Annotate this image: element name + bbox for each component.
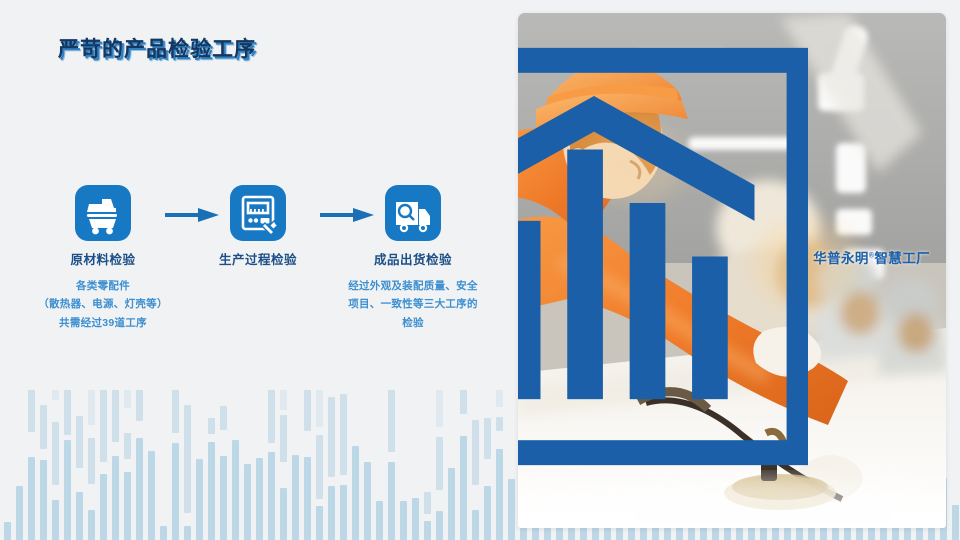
flow-step-raw-material[interactable]: 原材料检验 各类零配件 （散热器、电源、灯壳等） 共需经过39道工序: [33, 185, 173, 332]
decorative-bar: [268, 390, 275, 443]
decorative-bar: [244, 464, 251, 540]
decorative-bar: [232, 440, 239, 540]
decorative-bar: [220, 456, 227, 540]
desc-line: （散热器、电源、灯壳等）: [33, 295, 173, 313]
decorative-bar: [436, 390, 443, 427]
decorative-bar: [436, 511, 443, 540]
decorative-bar: [292, 455, 299, 540]
decorative-bar: [124, 390, 131, 408]
decorative-bar: [448, 468, 455, 540]
factory-photo: 华普永明®智慧工厂: [518, 13, 946, 528]
decorative-bar: [88, 438, 95, 484]
slide-canvas: 严苛的产品检验工序 原材料检验 各类零配件 （散热器、电源、灯壳等）: [0, 0, 960, 540]
decorative-bar: [328, 486, 335, 540]
decorative-bar: [172, 390, 179, 433]
mine-cart-icon: [75, 185, 131, 241]
decorative-bar: [88, 390, 95, 425]
decorative-bar: [436, 437, 443, 490]
decorative-bar: [412, 498, 419, 540]
page-title-text: 严苛的产品检验工序: [58, 33, 256, 63]
watermark-text: 华普永明®智慧工厂: [813, 247, 930, 267]
decorative-bar: [496, 417, 503, 431]
brand-watermark: 华普永明®智慧工厂: [518, 13, 930, 514]
decorative-bar: [52, 500, 59, 540]
decorative-bar: [340, 394, 347, 475]
decorative-bar: [280, 390, 287, 410]
decorative-bar: [316, 506, 323, 540]
desc-line: 经过外观及装配质量、安全: [343, 277, 483, 295]
decorative-bar: [472, 510, 479, 540]
flow-step-desc: 经过外观及装配质量、安全 项目、一致性等三大工序的 检验: [343, 277, 483, 332]
flow-step-label: 原材料检验: [33, 249, 173, 268]
desc-line: 检验: [343, 314, 483, 332]
decorative-bar: [28, 457, 35, 540]
decorative-bar: [220, 406, 227, 430]
decorative-bar: [484, 486, 491, 540]
decorative-bar: [268, 452, 275, 540]
decorative-bar: [100, 474, 107, 540]
decorative-bar: [352, 446, 359, 540]
decorative-bar: [316, 390, 323, 427]
decorative-bar: [472, 420, 479, 485]
decorative-bar: [40, 460, 47, 540]
flow-step-production[interactable]: 生产过程检验: [188, 185, 328, 268]
decorative-bar: [196, 459, 203, 540]
decorative-bar: [64, 440, 71, 540]
decorative-bar: [496, 449, 503, 540]
decorative-bar: [208, 418, 215, 434]
decorative-bar: [340, 485, 347, 540]
decorative-bar: [460, 436, 467, 540]
decorative-bar: [388, 390, 395, 452]
watermark-suffix: 智慧工厂: [874, 251, 930, 266]
decorative-bar: [364, 462, 371, 540]
decorative-bar: [160, 526, 167, 540]
decorative-bar: [496, 390, 503, 407]
decorative-bar: [16, 486, 23, 540]
flow-step-desc: 各类零配件 （散热器、电源、灯壳等） 共需经过39道工序: [33, 277, 173, 332]
decorative-bar: [172, 443, 179, 540]
decorative-bar: [424, 492, 431, 514]
decorative-bar: [376, 501, 383, 540]
decorative-bar: [184, 405, 191, 513]
decorative-bar: [460, 390, 467, 414]
decorative-bar: [316, 435, 323, 499]
decorative-bar: [52, 422, 59, 485]
decorative-bar: [484, 418, 491, 459]
flow-step-label: 生产过程检验: [188, 249, 328, 268]
watermark-brand: 华普永明: [813, 251, 869, 266]
decorative-bar: [112, 456, 119, 540]
decorative-bar: [952, 505, 959, 540]
page-title: 严苛的产品检验工序: [58, 33, 256, 63]
machine-tools-icon: [230, 185, 286, 241]
decorative-bar: [136, 438, 143, 540]
decorative-bar: [76, 492, 83, 540]
decorative-bar: [388, 462, 395, 540]
decorative-bar: [148, 451, 155, 540]
decorative-bar: [4, 522, 11, 540]
decorative-bar: [208, 442, 215, 540]
decorative-bar: [40, 405, 47, 449]
inspection-flow: 原材料检验 各类零配件 （散热器、电源、灯壳等） 共需经过39道工序: [0, 185, 500, 385]
decorative-bar: [100, 390, 107, 462]
desc-line: 项目、一致性等三大工序的: [343, 295, 483, 313]
flow-step-label: 成品出货检验: [343, 249, 483, 268]
huapu-yongming-logo-icon: [518, 13, 808, 514]
decorative-bar: [184, 526, 191, 540]
flow-step-finished-goods[interactable]: 成品出货检验 经过外观及装配质量、安全 项目、一致性等三大工序的 检验: [343, 185, 483, 332]
decorative-bar: [424, 521, 431, 540]
decorative-bar: [136, 390, 143, 421]
decorative-bar: [256, 458, 263, 540]
desc-line: 共需经过39道工序: [33, 314, 173, 332]
decorative-bar: [304, 457, 311, 540]
decorative-bar: [76, 416, 83, 468]
decorative-bar: [280, 488, 287, 540]
decorative-bar: [328, 397, 335, 477]
decorative-bar: [304, 390, 311, 431]
decorative-bar: [508, 479, 515, 540]
decorative-bar: [124, 433, 131, 459]
decorative-bar: [280, 415, 287, 462]
truck-inspection-icon: [385, 185, 441, 241]
decorative-bar: [124, 472, 131, 540]
decorative-bar: [64, 390, 71, 435]
decorative-bar: [400, 501, 407, 540]
decorative-bar: [88, 510, 95, 540]
decorative-bar: [52, 390, 59, 400]
desc-line: 各类零配件: [33, 277, 173, 295]
decorative-bar: [28, 390, 35, 432]
decorative-bar: [112, 390, 119, 442]
